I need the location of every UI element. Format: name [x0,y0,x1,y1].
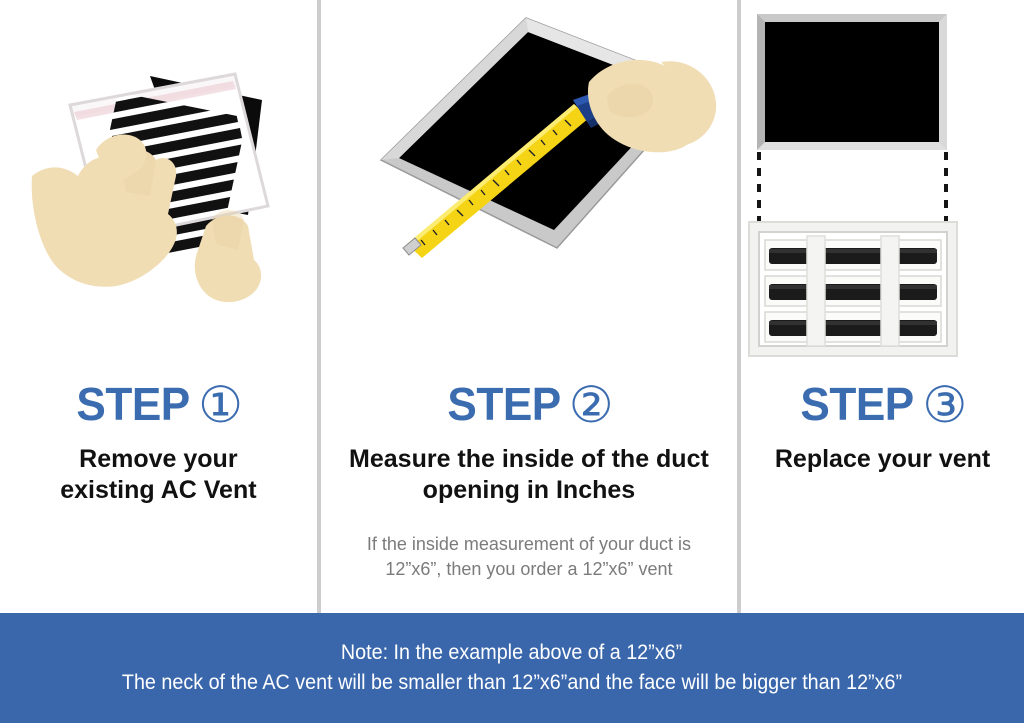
step-panel-1: STEP ① Remove your existing AC Vent [0,0,317,613]
step-1-label: STEP ① [0,378,317,430]
instruction-sheet: STEP ① Remove your existing AC Vent [0,0,1024,723]
step-2-label: STEP ② [321,378,737,430]
step-2-word: STEP [447,378,560,430]
step-3-headline: Replace your vent [741,444,1024,475]
step-3-word: STEP [801,378,914,430]
step-1-word: STEP [76,378,189,430]
step-2-caption: STEP ② Measure the inside of the duct op… [321,378,737,582]
step-2-subnote: If the inside measurement of your duct i… [321,532,737,582]
step-1-caption: STEP ① Remove your existing AC Vent [0,378,317,506]
hands-removing-vent-illustration [0,0,317,368]
note-banner-line-1: Note: In the example above of a 12”x6” [341,638,682,668]
step-1-number-circle: ① [198,379,242,431]
step-panel-2: STEP ② Measure the inside of the duct op… [321,0,737,613]
note-banner: Note: In the example above of a 12”x6” T… [0,613,1024,723]
note-banner-line-2: The neck of the AC vent will be smaller … [122,668,902,698]
step-3-caption: STEP ③ Replace your vent [741,378,1024,475]
step-3-number-circle: ③ [922,379,966,431]
step-1-headline: Remove your existing AC Vent [0,444,317,506]
steps-container: STEP ① Remove your existing AC Vent [0,0,1024,613]
step-2-number-circle: ② [569,379,613,431]
step-2-headline: Measure the inside of the duct opening i… [321,444,737,506]
tape-measure-duct-illustration [321,0,737,368]
step-panel-3: STEP ③ Replace your vent [741,0,1024,613]
vent-alignment-illustration [741,0,1024,368]
step-3-label: STEP ③ [741,378,1024,430]
